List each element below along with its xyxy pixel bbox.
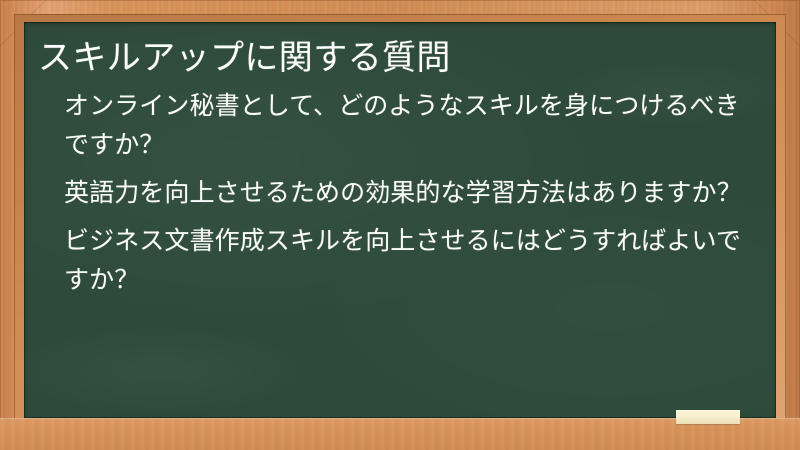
chalk-stick <box>676 410 740 424</box>
list-item: オンライン秘書として、どのようなスキルを身につけるべきですか？ <box>64 86 750 164</box>
list-item: ビジネス文書作成スキルを向上させるにはどうすればよいですか？ <box>64 221 750 299</box>
slide-content: スキルアップに関する質問 オンライン秘書として、どのようなスキルを身につけるべき… <box>24 22 776 418</box>
slide-title: スキルアップに関する質問 <box>38 36 750 80</box>
chalkboard-surface: スキルアップに関する質問 オンライン秘書として、どのようなスキルを身につけるべき… <box>24 22 776 418</box>
chalkboard-slide: スキルアップに関する質問 オンライン秘書として、どのようなスキルを身につけるべき… <box>0 0 800 450</box>
list-item: 英語力を向上させるための効果的な学習方法はありますか？ <box>64 173 750 212</box>
question-list: オンライン秘書として、どのようなスキルを身につけるべきですか？ 英語力を向上させ… <box>38 86 750 299</box>
